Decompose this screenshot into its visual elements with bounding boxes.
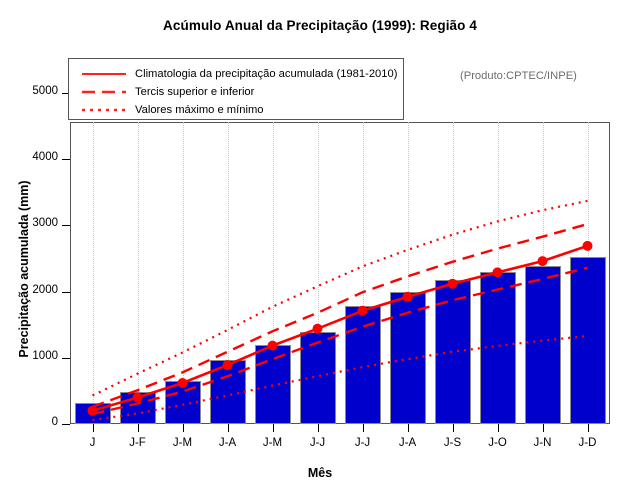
y-tick — [62, 159, 70, 160]
dotted-line-key — [81, 102, 127, 118]
bar-j-d — [570, 257, 606, 424]
legend-item-climatologia: Climatologia da precipitação acumulada (… — [69, 66, 403, 82]
credit-annotation: (Produto:CPTEC/INPE) — [460, 70, 577, 82]
legend-label: Tercis superior e inferior — [135, 84, 254, 100]
bar-j-a — [210, 360, 246, 424]
x-tick-label: J-D — [560, 437, 616, 449]
bar-j-n — [525, 266, 561, 424]
legend-item-tercis: Tercis superior e inferior — [69, 84, 403, 100]
x-axis-title: Mês — [0, 466, 640, 480]
bar-j-j — [300, 332, 336, 424]
x-tick — [228, 424, 229, 432]
x-tick — [138, 424, 139, 432]
gridline — [93, 122, 94, 424]
y-tick-label: 3000 — [32, 217, 58, 229]
y-tick-label: 0 — [52, 416, 58, 428]
x-tick — [408, 424, 409, 432]
x-tick — [543, 424, 544, 432]
x-tick — [498, 424, 499, 432]
y-tick — [62, 358, 70, 359]
bar-j-j — [345, 306, 381, 424]
gridline — [183, 122, 184, 424]
solid-line-key — [81, 66, 127, 82]
x-tick — [453, 424, 454, 432]
bar-j-s — [435, 280, 471, 424]
y-tick-label: 4000 — [32, 151, 58, 163]
legend-label: Valores máximo e mínimo — [135, 102, 264, 118]
bar-j — [75, 403, 111, 424]
x-tick — [318, 424, 319, 432]
y-tick-label: 2000 — [32, 284, 58, 296]
y-tick — [62, 292, 70, 293]
x-tick — [93, 424, 94, 432]
x-tick — [588, 424, 589, 432]
y-axis-title: Precipitação acumulada (mm) — [17, 139, 31, 399]
y-tick-label: 1000 — [32, 350, 58, 362]
x-tick — [183, 424, 184, 432]
x-tick — [273, 424, 274, 432]
bar-j-m — [255, 345, 291, 424]
chart-page: Acúmulo Anual da Precipitação (1999): Re… — [0, 0, 640, 500]
legend-item-valores: Valores máximo e mínimo — [69, 102, 403, 118]
chart-legend: Climatologia da precipitação acumulada (… — [68, 58, 404, 120]
y-tick — [62, 424, 70, 425]
bar-j-o — [480, 272, 516, 424]
y-tick — [62, 225, 70, 226]
bar-j-m — [165, 381, 201, 424]
dashed-line-key — [81, 84, 127, 100]
legend-label: Climatologia da precipitação acumulada (… — [135, 66, 397, 82]
x-tick — [363, 424, 364, 432]
y-tick-label: 5000 — [32, 85, 58, 97]
bar-j-f — [120, 392, 156, 424]
gridline — [138, 122, 139, 424]
chart-title: Acúmulo Anual da Precipitação (1999): Re… — [0, 18, 640, 33]
bar-j-a — [390, 292, 426, 424]
